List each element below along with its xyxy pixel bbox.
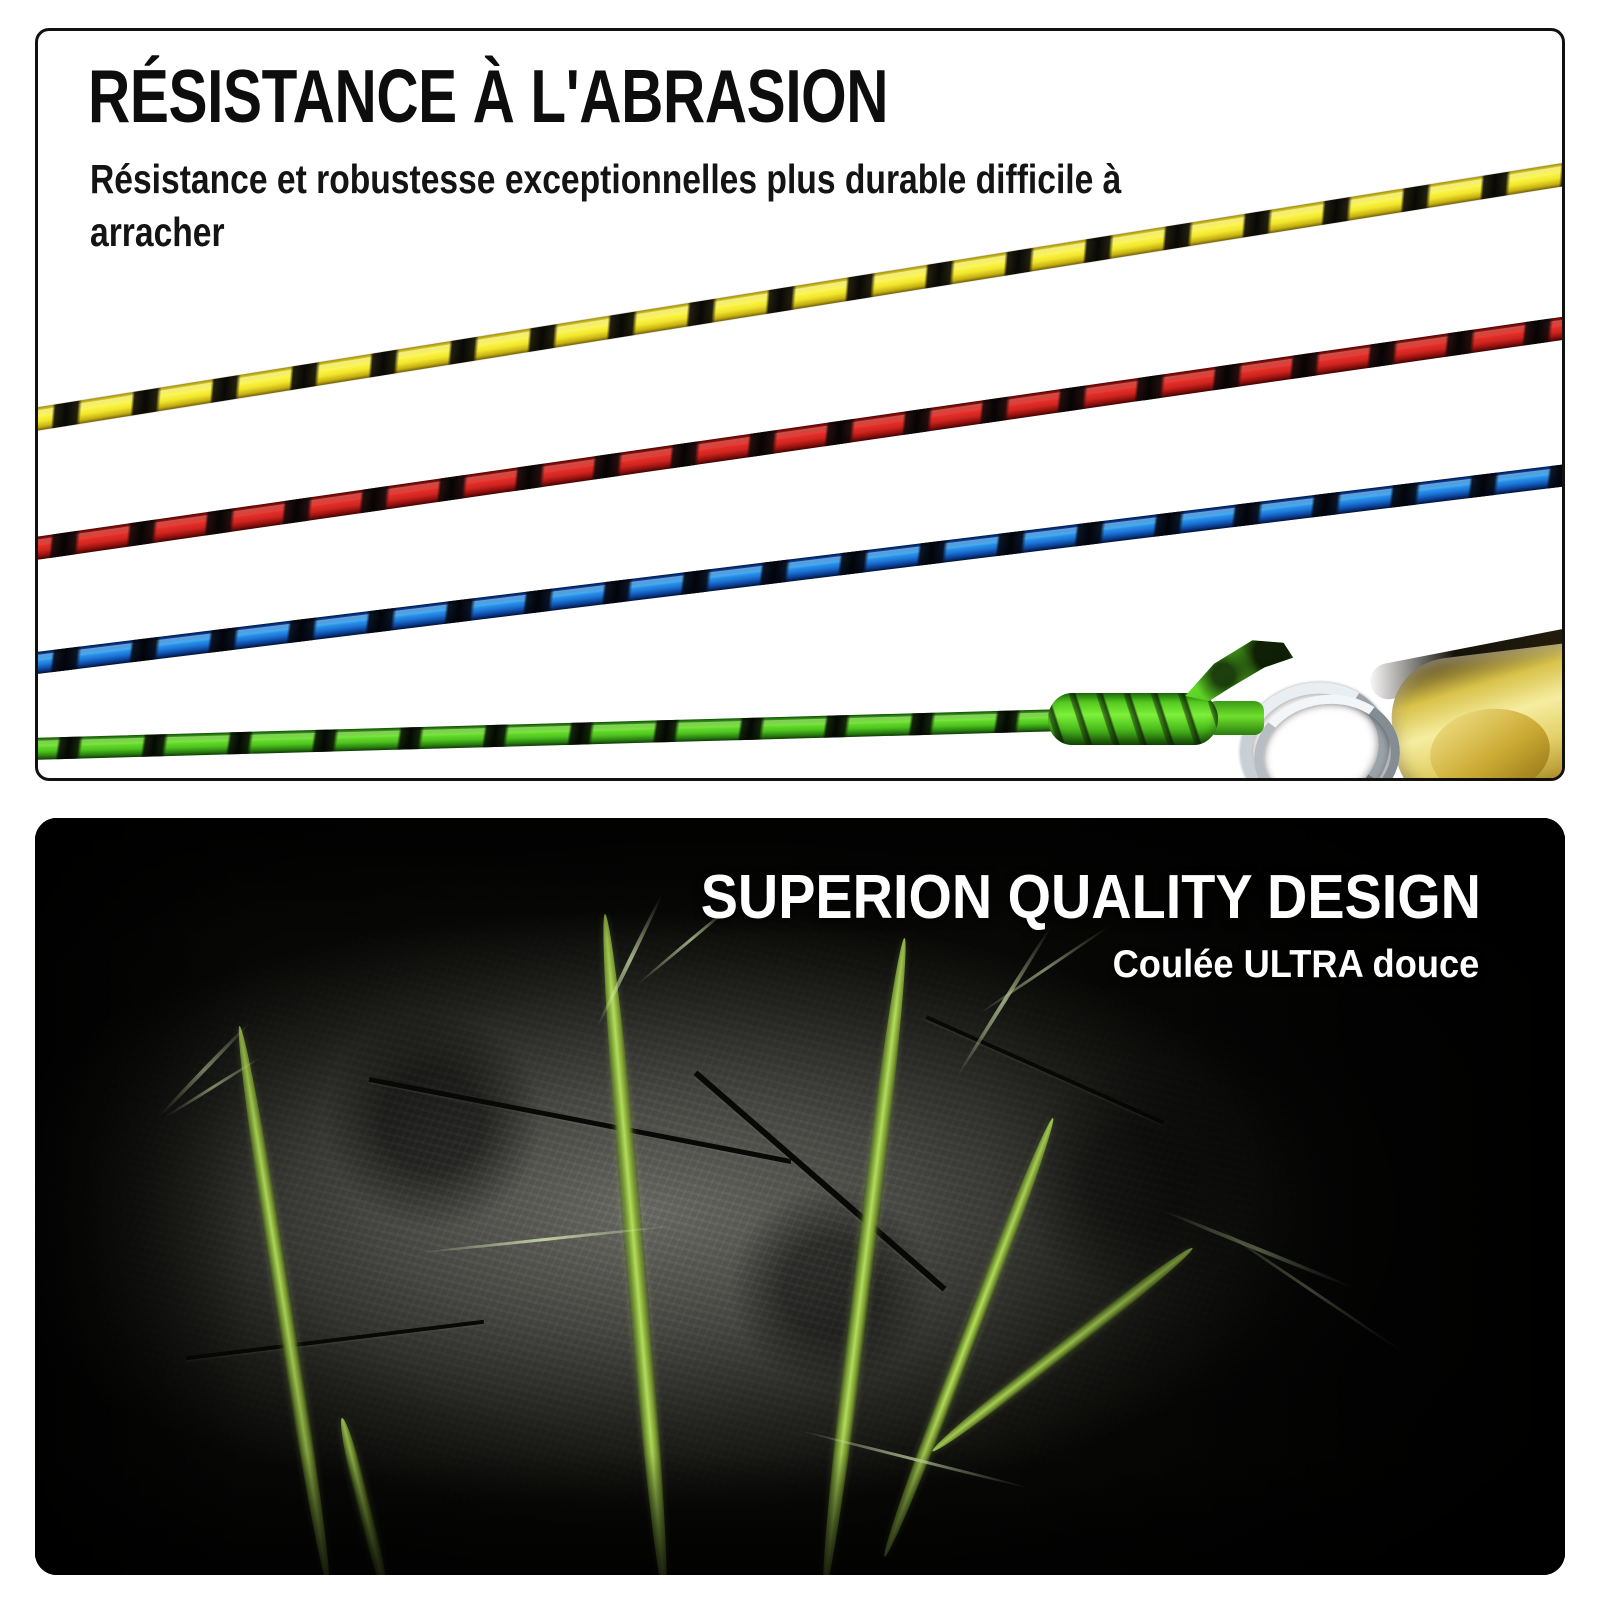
abrasion-resistance-panel: RÉSISTANCE À L'ABRASION Résistance et ro… <box>35 28 1565 781</box>
quality-design-panel: SUPERION QUALITY DESIGN Coulée ULTRA dou… <box>35 818 1565 1575</box>
red-cord-tracers <box>35 304 1565 561</box>
red-cord <box>35 304 1565 561</box>
quality-design-title: SUPERION QUALITY DESIGN <box>701 862 1481 933</box>
knot-assembly <box>1028 621 1348 781</box>
green-cord <box>35 709 1073 760</box>
cord-illustration <box>38 31 1562 778</box>
quality-design-subtitle: Coulée ULTRA douce <box>1112 943 1479 987</box>
page-title: RÉSISTANCE À L'ABRASION <box>88 59 888 134</box>
page-subtitle: Résistance et robustesse exceptionnelles… <box>90 153 1156 260</box>
green-cord-tracers <box>35 709 1073 760</box>
green-braid-knot <box>1048 693 1218 745</box>
